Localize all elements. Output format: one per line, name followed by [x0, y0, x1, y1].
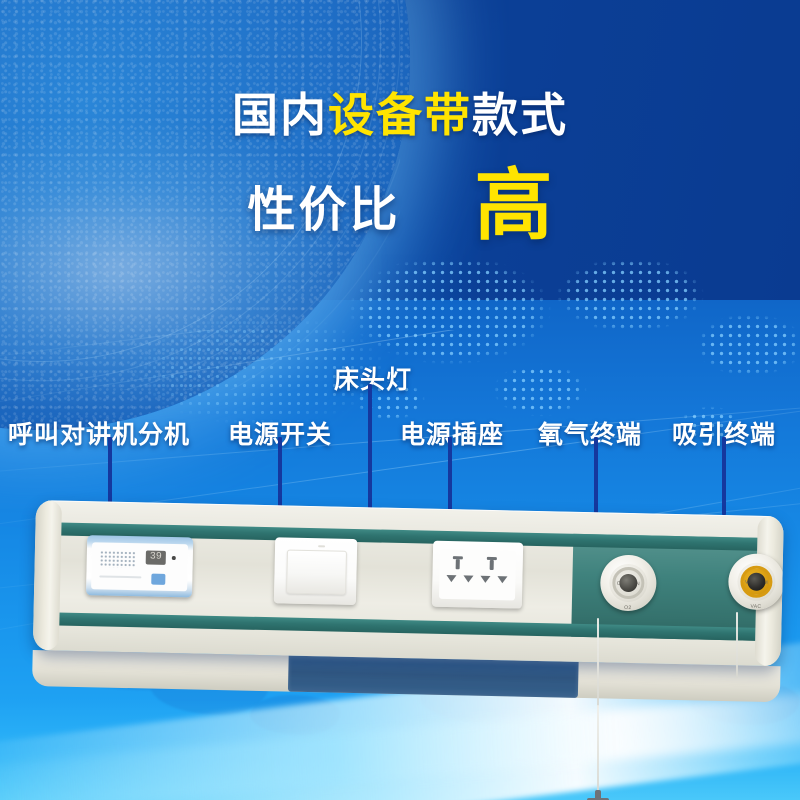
socket-slot-left	[453, 556, 463, 559]
headline-part-1: 国内	[232, 92, 328, 138]
status-led-icon	[172, 556, 176, 560]
subheadline: 性价比 高	[0, 168, 800, 242]
nurse-call-intercom[interactable]: 39	[86, 535, 193, 597]
callout-label-3: 电源插座	[400, 415, 504, 451]
callout-label-4: 氧气终端	[538, 415, 642, 451]
socket-slot-right	[487, 557, 497, 560]
socket-pin-left-top	[456, 559, 460, 569]
ray-line-0	[0, 330, 800, 331]
oxygen-terminal-bottom-text: O2	[615, 605, 641, 612]
bed-light-diffuser	[288, 656, 579, 698]
socket-prong-2	[463, 575, 473, 582]
socket-prong-1	[446, 575, 456, 582]
switch-rocker[interactable]	[286, 550, 347, 595]
panel-cap-left	[33, 500, 62, 651]
power-socket[interactable]	[432, 541, 523, 609]
hose-hook-icon	[587, 790, 609, 800]
power-switch[interactable]	[274, 537, 357, 605]
panel-assembly: 39	[32, 500, 784, 702]
socket-prong-4	[497, 576, 507, 583]
suction-hose-cord	[736, 612, 738, 678]
intercom-face: 39	[91, 542, 188, 591]
panel-face: 39	[33, 500, 784, 666]
subheadline-text: 性价比	[247, 170, 400, 240]
oxygen-hose-cord-lower	[597, 705, 599, 795]
suction-terminal-bottom-text: VAC	[743, 603, 769, 610]
headline: 国内设备带款式	[0, 92, 800, 138]
socket-face	[439, 549, 516, 601]
switch-indicator-icon	[318, 545, 325, 547]
oxygen-hose-cord	[597, 618, 599, 708]
socket-prong-3	[480, 576, 490, 583]
suction-terminal[interactable]: VACUUM VAC	[728, 553, 784, 610]
bed-head-panel: 39	[34, 500, 782, 710]
headline-part-3: 款式	[472, 92, 568, 138]
intercom-display: 39	[146, 550, 166, 564]
socket-pin-right-top	[490, 560, 494, 570]
intercom-label-line	[99, 575, 141, 578]
intercom-call-button[interactable]	[151, 574, 165, 585]
callout-label-2: 床头灯	[334, 360, 412, 396]
subheadline-accent: 高	[475, 168, 553, 242]
callout-leader-0	[108, 437, 112, 507]
callout-label-0: 呼叫对讲机分机	[8, 415, 190, 451]
poster-canvas: 国内设备带款式 性价比 高 呼叫对讲机分机电源开关床头灯电源插座氧气终端吸引终端	[0, 0, 800, 800]
headline-part-2: 设备带	[328, 92, 472, 138]
speaker-grille-icon	[100, 550, 136, 568]
